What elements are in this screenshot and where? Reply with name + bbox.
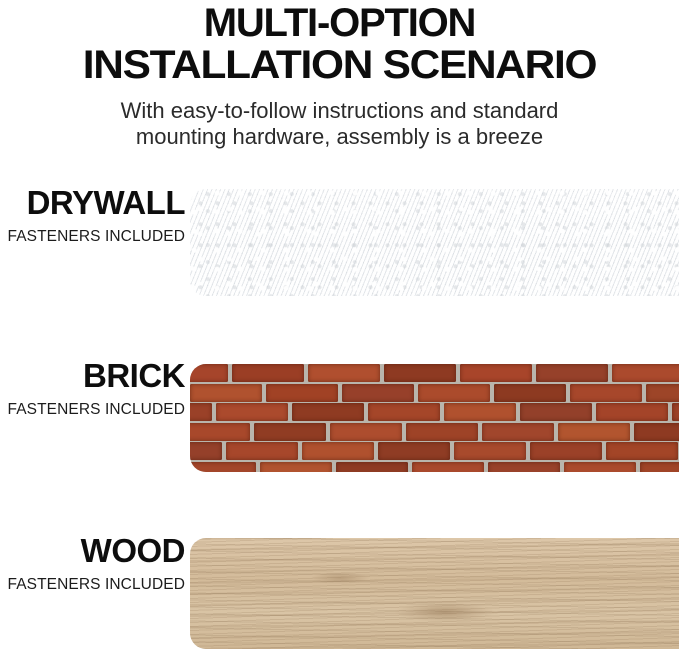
brick <box>558 423 630 441</box>
brick <box>494 384 566 402</box>
brick <box>530 442 602 460</box>
brick <box>570 384 642 402</box>
brick <box>190 423 250 441</box>
fasteners-label-brick: FASTENERS INCLUDED <box>0 394 185 419</box>
page-title-line-2: INSTALLATION SCENARIO <box>0 44 679 86</box>
brick <box>330 423 402 441</box>
brick <box>292 403 364 421</box>
wood-labels: WOOD FASTENERS INCLUDED <box>0 533 188 594</box>
material-name-wood: WOOD <box>0 533 185 569</box>
subtitle-line-2: mounting hardware, assembly is a breeze <box>0 124 679 150</box>
brick <box>368 403 440 421</box>
brick <box>606 442 678 460</box>
brick <box>646 384 679 402</box>
brick-course <box>190 403 679 421</box>
brick-course <box>190 364 679 382</box>
brick-course <box>190 384 679 402</box>
brick <box>418 384 490 402</box>
brick <box>190 442 222 460</box>
brick <box>444 403 516 421</box>
brick <box>254 423 326 441</box>
brick-course <box>190 462 679 473</box>
fasteners-label-drywall: FASTENERS INCLUDED <box>0 221 185 246</box>
page-title-line-1: MULTI-OPTION <box>0 0 679 44</box>
brick <box>266 384 338 402</box>
brick <box>488 462 560 473</box>
brick <box>520 403 592 421</box>
brick <box>302 442 374 460</box>
brick <box>308 364 380 382</box>
brick <box>640 462 679 473</box>
brick <box>190 364 228 382</box>
brick <box>672 403 679 421</box>
material-row-brick: BRICK FASTENERS INCLUDED <box>0 358 679 473</box>
brick <box>190 384 262 402</box>
brick <box>612 364 679 382</box>
brick <box>336 462 408 473</box>
brick <box>454 442 526 460</box>
brick <box>384 364 456 382</box>
brick <box>482 423 554 441</box>
brick-wall-panel <box>190 364 679 472</box>
wood-wall-panel <box>190 538 679 649</box>
brick-labels: BRICK FASTENERS INCLUDED <box>0 358 188 419</box>
brick <box>378 442 450 460</box>
brick <box>216 403 288 421</box>
brick <box>460 364 532 382</box>
brick <box>232 364 304 382</box>
brick <box>226 442 298 460</box>
brick <box>406 423 478 441</box>
header: MULTI-OPTION INSTALLATION SCENARIO With … <box>0 0 679 150</box>
fasteners-label-wood: FASTENERS INCLUDED <box>0 569 185 594</box>
material-name-brick: BRICK <box>0 358 185 394</box>
drywall-wall-panel <box>190 189 679 296</box>
brick <box>260 462 332 473</box>
material-name-drywall: DRYWALL <box>0 185 185 221</box>
brick <box>564 462 636 473</box>
brick <box>412 462 484 473</box>
brick-course <box>190 423 679 441</box>
material-row-drywall: DRYWALL FASTENERS INCLUDED <box>0 185 679 300</box>
brick-course <box>190 442 679 460</box>
brick <box>190 403 212 421</box>
brick <box>536 364 608 382</box>
brick <box>596 403 668 421</box>
brick <box>190 462 256 473</box>
subtitle-line-1: With easy-to-follow instructions and sta… <box>0 86 679 124</box>
brick <box>634 423 679 441</box>
brick <box>342 384 414 402</box>
material-row-wood: WOOD FASTENERS INCLUDED <box>0 533 679 649</box>
drywall-labels: DRYWALL FASTENERS INCLUDED <box>0 185 188 246</box>
